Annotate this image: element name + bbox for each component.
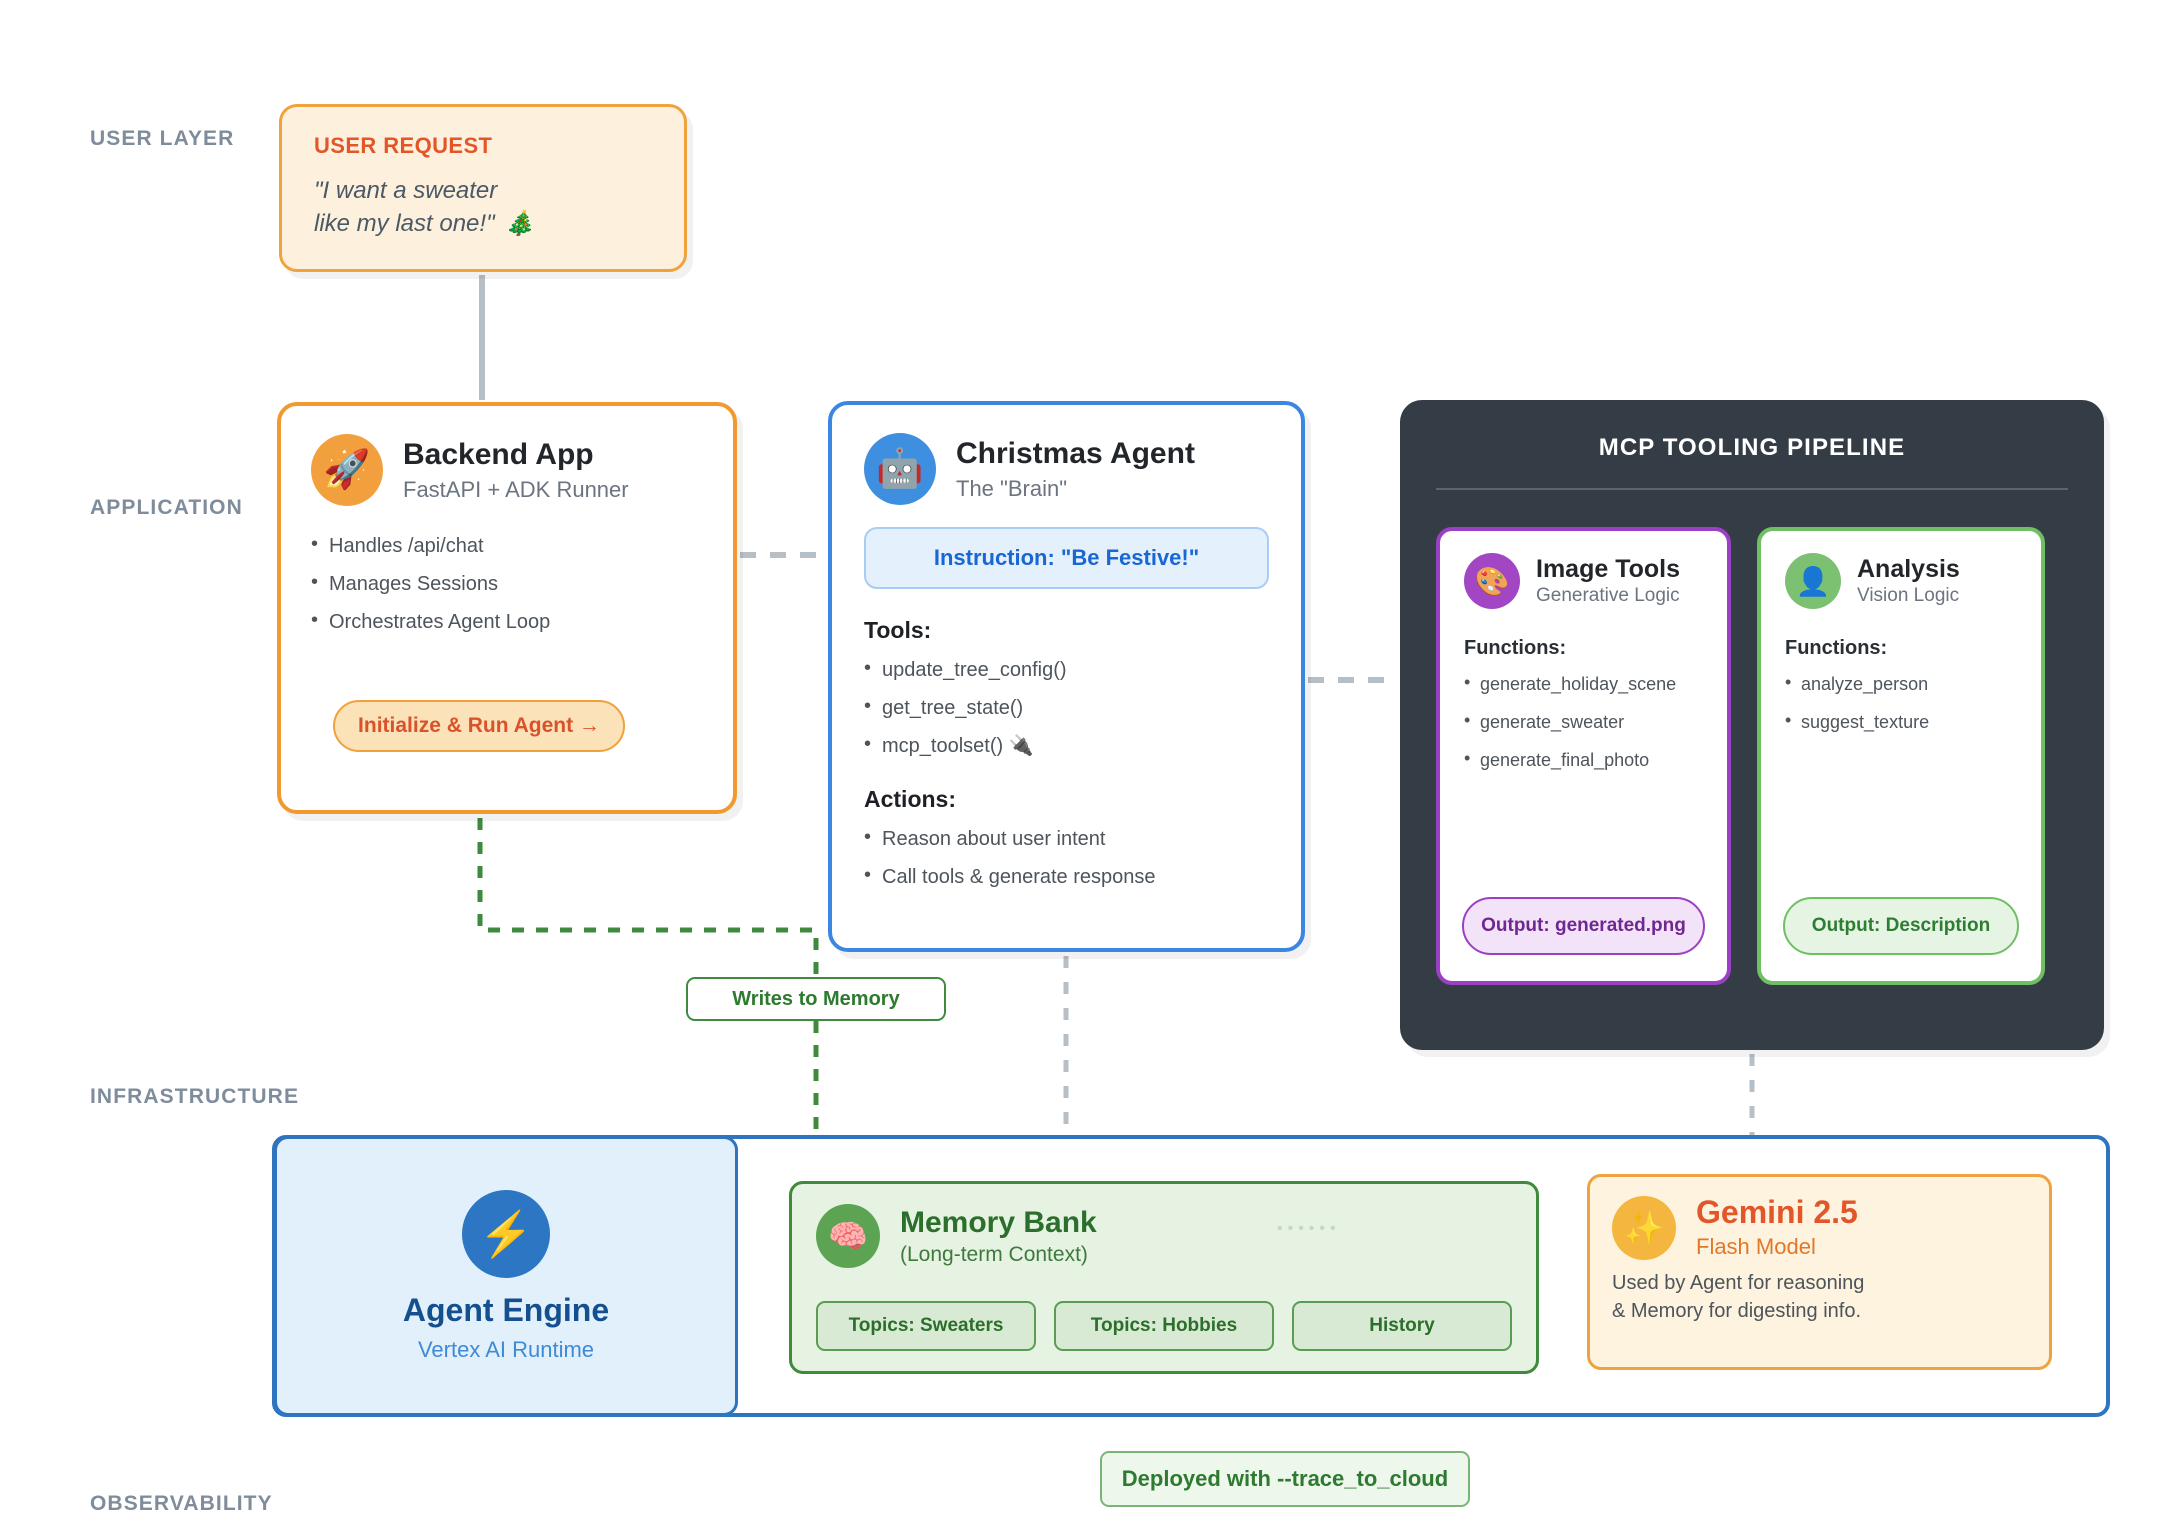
christmas-agent-card: 🤖 Christmas Agent The "Brain" Instructio…: [828, 401, 1305, 952]
image-tools-functions-list: generate_holiday_scene generate_sweater …: [1464, 674, 1703, 771]
agent-engine-card: ⚡ Agent Engine Vertex AI Runtime: [274, 1136, 738, 1416]
layer-label-user: USER LAYER: [90, 127, 234, 151]
backend-app-card: 🚀 Backend App FastAPI + ADK Runner Handl…: [277, 402, 737, 814]
agent-engine-subtitle: Vertex AI Runtime: [418, 1337, 594, 1363]
gemini-subtitle: Flash Model: [1696, 1234, 1858, 1260]
memory-bank-subtitle: (Long-term Context): [900, 1243, 1097, 1267]
memory-bank-title: Memory Bank: [900, 1206, 1097, 1239]
image-tools-card: 🎨 Image Tools Generative Logic Functions…: [1436, 527, 1731, 985]
user-request-title: USER REQUEST: [314, 133, 654, 159]
analysis-output-badge: Output: Description: [1783, 897, 2019, 955]
layer-label-infrastructure: INFRASTRUCTURE: [90, 1085, 299, 1109]
robot-icon: 🤖: [864, 433, 936, 505]
rocket-icon: 🚀: [311, 434, 383, 506]
user-request-quote-line2: like my last one!": [314, 208, 495, 241]
list-item: update_tree_config(): [864, 660, 1269, 680]
gemini-desc-line2: & Memory for digesting info.: [1612, 1298, 2027, 1326]
memory-dots-indicator: ••••••: [1277, 1220, 1341, 1238]
person-icon: 👤: [1785, 553, 1841, 609]
actions-list: Reason about user intent Call tools & ge…: [864, 829, 1269, 887]
user-request-card: USER REQUEST "I want a sweater like my l…: [279, 104, 687, 272]
sparkle-icon: ✨: [1612, 1196, 1676, 1260]
mcp-panel-title: MCP TOOLING PIPELINE: [1432, 434, 2072, 462]
image-tools-title: Image Tools: [1536, 555, 1680, 584]
analysis-functions-list: analyze_person suggest_texture: [1785, 674, 2017, 733]
analysis-subtitle: Vision Logic: [1857, 585, 1960, 607]
list-item: generate_sweater: [1464, 712, 1703, 733]
lightning-icon: ⚡: [462, 1190, 550, 1278]
mcp-panel-divider: [1436, 488, 2068, 490]
list-item: Handles /api/chat: [311, 536, 703, 556]
image-tools-subtitle: Generative Logic: [1536, 585, 1680, 607]
gemini-desc-line1: Used by Agent for reasoning: [1612, 1270, 2027, 1298]
backend-app-title: Backend App: [403, 437, 629, 472]
image-tools-functions-heading: Functions:: [1464, 637, 1703, 660]
memory-chip-topics-hobbies[interactable]: Topics: Hobbies: [1054, 1301, 1274, 1351]
actions-heading: Actions:: [864, 786, 1269, 813]
christmas-tree-icon: 🎄: [505, 208, 535, 241]
palette-icon: 🎨: [1464, 553, 1520, 609]
memory-chip-row: Topics: Sweaters Topics: Hobbies History: [816, 1301, 1512, 1351]
brain-icon: 🧠: [816, 1204, 880, 1268]
list-item: Call tools & generate response: [864, 867, 1269, 887]
writes-to-memory-badge: Writes to Memory: [686, 977, 946, 1021]
list-item: get_tree_state(): [864, 698, 1269, 718]
backend-app-bullets: Handles /api/chat Manages Sessions Orche…: [311, 536, 703, 632]
deployed-trace-badge: Deployed with --trace_to_cloud: [1100, 1451, 1470, 1507]
list-item: Manages Sessions: [311, 574, 703, 594]
list-item: suggest_texture: [1785, 712, 2017, 733]
tools-list: update_tree_config() get_tree_state() mc…: [864, 660, 1269, 756]
christmas-agent-title: Christmas Agent: [956, 436, 1195, 471]
list-item: generate_final_photo: [1464, 750, 1703, 771]
list-item: generate_holiday_scene: [1464, 674, 1703, 695]
list-item: Reason about user intent: [864, 829, 1269, 849]
gemini-title: Gemini 2.5: [1696, 1195, 1858, 1230]
gemini-model-card: ✨ Gemini 2.5 Flash Model Used by Agent f…: [1587, 1174, 2052, 1370]
list-item: analyze_person: [1785, 674, 2017, 695]
list-item: mcp_toolset() 🔌: [864, 736, 1269, 756]
architecture-diagram: USER LAYER APPLICATION INFRASTRUCTURE OB…: [0, 0, 2180, 1540]
agent-engine-title: Agent Engine: [403, 1292, 609, 1329]
tools-heading: Tools:: [864, 617, 1269, 644]
memory-bank-card: 🧠 Memory Bank (Long-term Context) ••••••…: [789, 1181, 1539, 1374]
initialize-run-agent-button[interactable]: Initialize & Run Agent →: [333, 700, 625, 752]
analysis-functions-heading: Functions:: [1785, 637, 2017, 660]
layer-label-observability: OBSERVABILITY: [90, 1492, 273, 1516]
christmas-agent-subtitle: The "Brain": [956, 476, 1195, 502]
backend-app-subtitle: FastAPI + ADK Runner: [403, 477, 629, 503]
memory-chip-topics-sweaters[interactable]: Topics: Sweaters: [816, 1301, 1036, 1351]
memory-chip-history[interactable]: History: [1292, 1301, 1512, 1351]
user-request-quote-line1: "I want a sweater: [314, 175, 654, 208]
instruction-badge: Instruction: "Be Festive!": [864, 527, 1269, 589]
list-item: Orchestrates Agent Loop: [311, 612, 703, 632]
analysis-card: 👤 Analysis Vision Logic Functions: analy…: [1757, 527, 2045, 985]
image-tools-output-badge: Output: generated.png: [1462, 897, 1705, 955]
analysis-title: Analysis: [1857, 555, 1960, 584]
layer-label-application: APPLICATION: [90, 496, 243, 520]
